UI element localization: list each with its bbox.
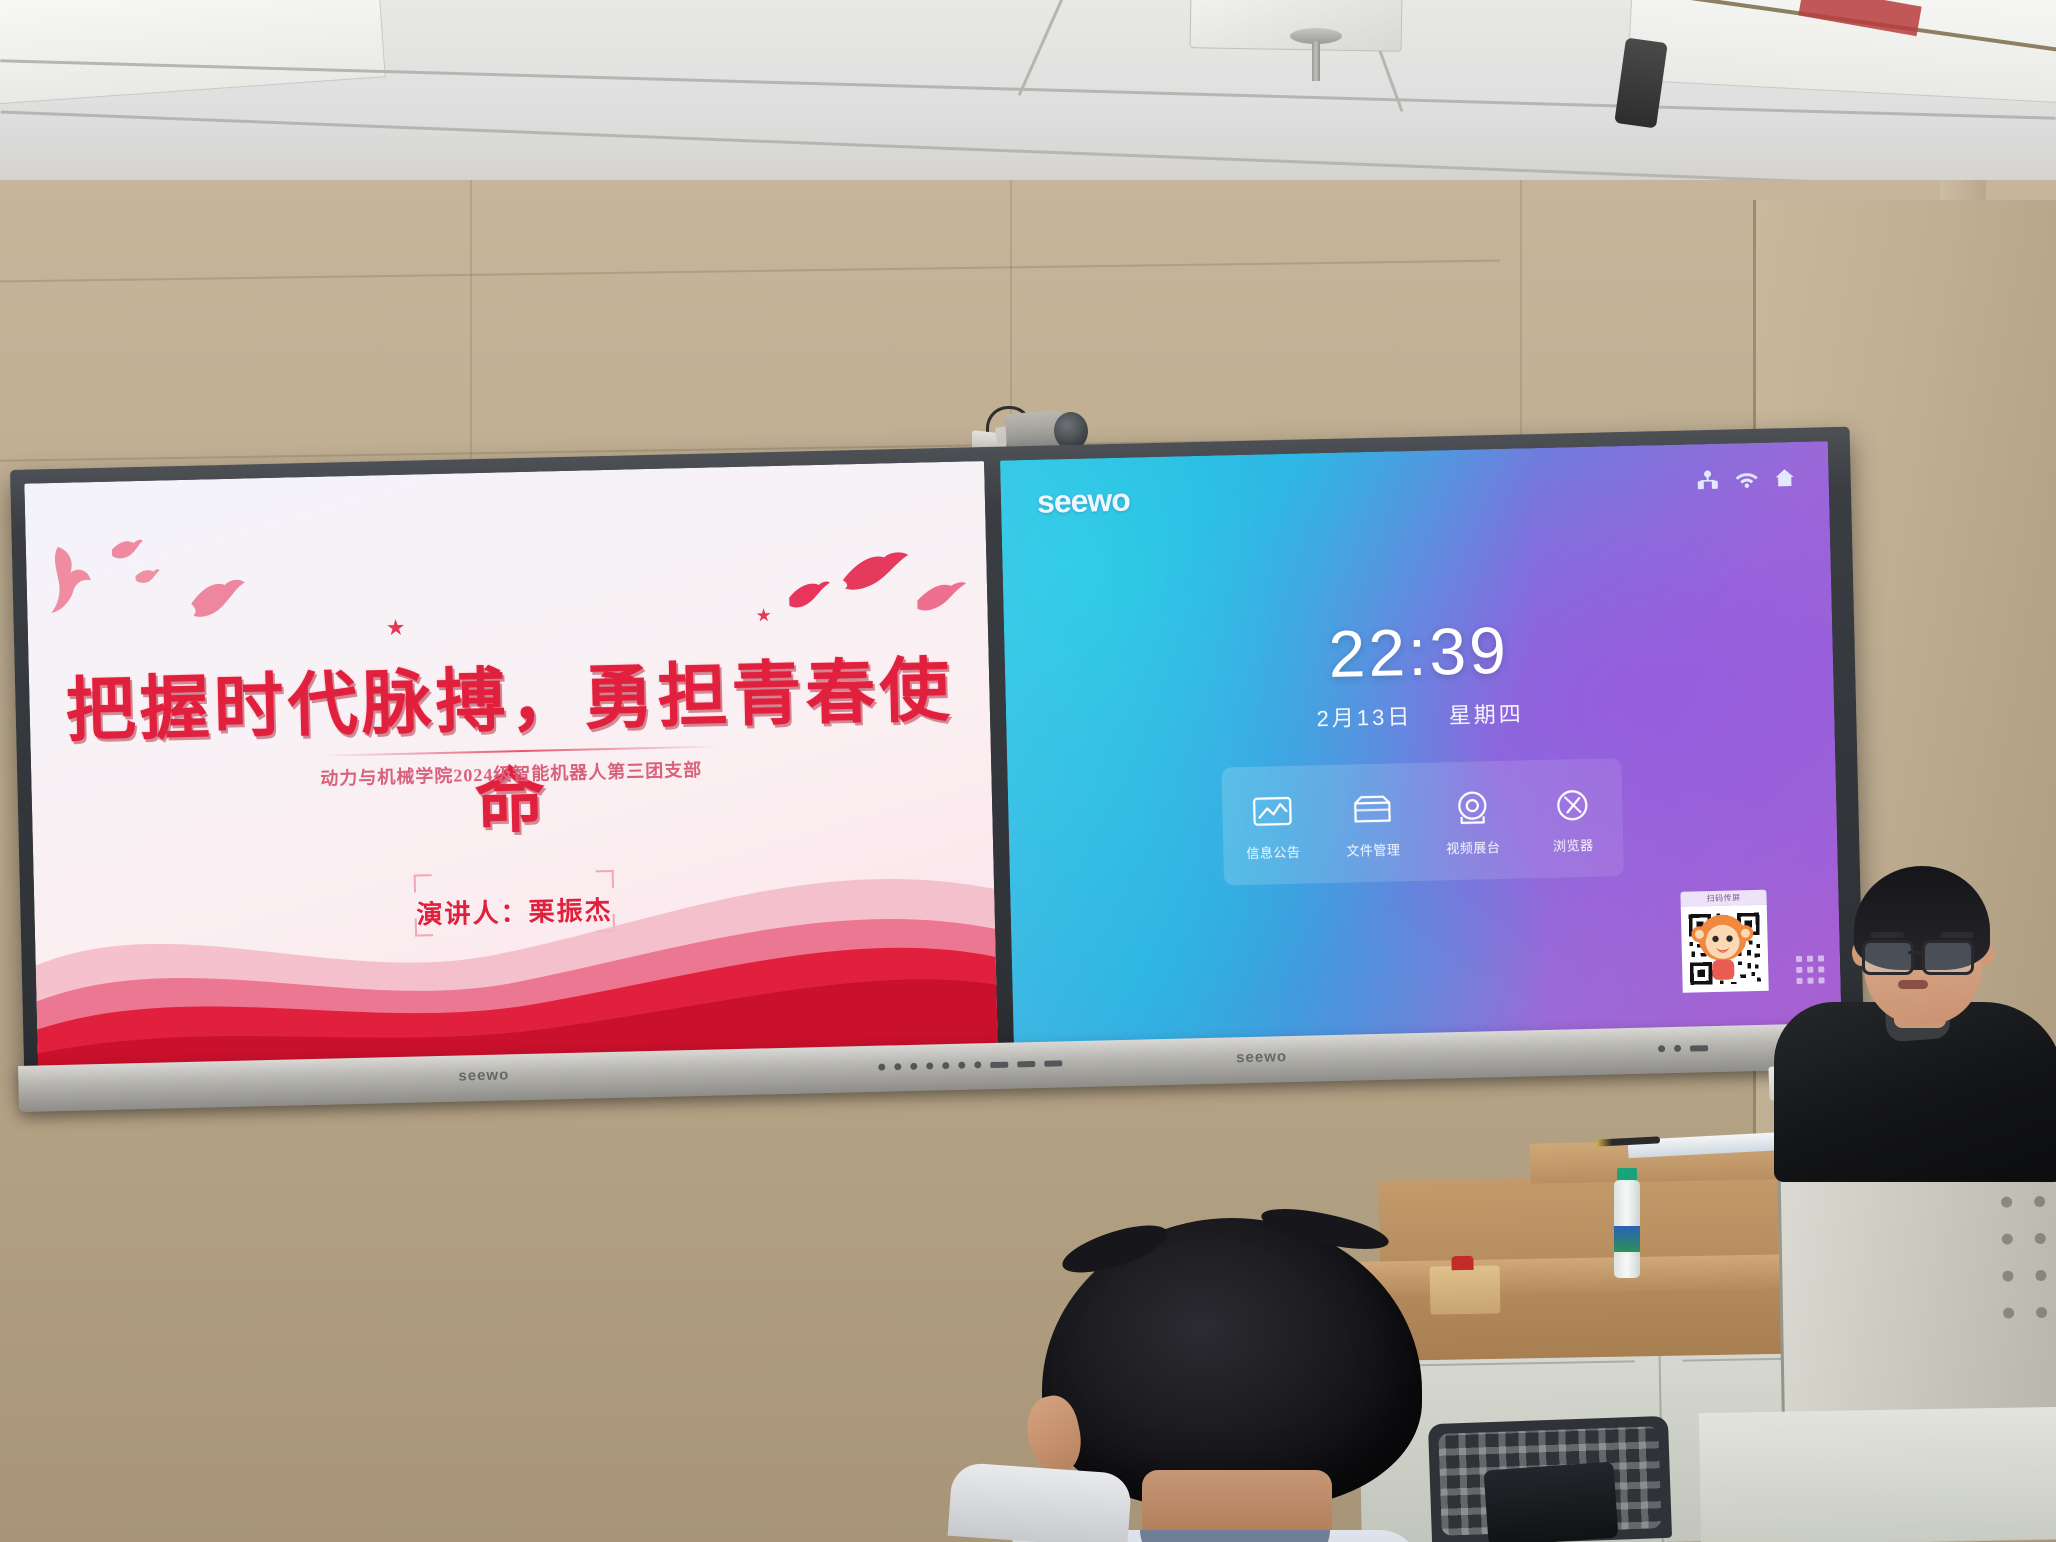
wall-seam <box>0 260 1500 283</box>
dock-label: 视频展台 <box>1431 837 1515 858</box>
bezel-brand-left: seewo <box>458 1066 509 1084</box>
left-display-panel[interactable]: ★ ★ 把握时代脉搏，勇担青春使命 动力与机械学院2024级智能机器人第三团支部… <box>24 461 998 1075</box>
ceiling-projector-mount <box>1614 37 1668 128</box>
bezel-control-buttons-right[interactable] <box>1658 1044 1708 1052</box>
lectern-vent-holes <box>2001 1196 2047 1319</box>
foreground-device <box>1484 1462 1619 1542</box>
dock-item-camera[interactable]: 视频展台 <box>1430 784 1516 858</box>
clock-weekday: 星期四 <box>1448 701 1524 728</box>
presenter-brow <box>1940 932 1974 938</box>
dove-icon <box>915 579 968 614</box>
star-icon: ★ <box>755 606 772 624</box>
ethernet-icon[interactable] <box>1696 470 1718 491</box>
dock-item-announcement[interactable]: 信息公告 <box>1230 788 1316 862</box>
dock-label: 浏览器 <box>1531 834 1615 855</box>
wall-seam <box>470 180 472 480</box>
ceiling-vent <box>1190 0 1403 52</box>
dock-label: 文件管理 <box>1331 839 1415 860</box>
presenter-brow <box>1870 932 1904 938</box>
clock-widget: 22:39 2月13日 星期四 <box>1004 609 1834 740</box>
dock-item-browser[interactable]: 浏览器 <box>1530 781 1616 855</box>
dock-label: 信息公告 <box>1231 841 1315 862</box>
ceiling-light-panel <box>0 0 386 107</box>
wifi-icon[interactable] <box>1735 470 1757 489</box>
presentation-slide[interactable]: ★ ★ 把握时代脉搏，勇担青春使命 动力与机械学院2024级智能机器人第三团支部… <box>24 461 998 1075</box>
dove-icon <box>189 578 252 627</box>
interactive-flat-panel-assembly: ★ ★ 把握时代脉搏，勇担青春使命 动力与机械学院2024级智能机器人第三团支部… <box>10 427 1864 1090</box>
dove-icon <box>840 551 911 597</box>
app-dock: 信息公告 文件管理 <box>1221 758 1624 885</box>
dove-icon <box>110 537 145 568</box>
bezel-control-buttons[interactable] <box>878 1059 1062 1070</box>
classroom-scene: ★ ★ 把握时代脉搏，勇担青春使命 动力与机械学院2024级智能机器人第三团支部… <box>0 0 2056 1542</box>
clock-date-value: 2月13日 <box>1316 704 1412 731</box>
foreground-arm <box>948 1462 1133 1542</box>
screen-glare <box>1000 441 1599 1052</box>
glasses-icon <box>1862 940 1986 970</box>
seewo-home-screen[interactable]: seewo <box>1000 441 1842 1052</box>
presenter <box>1790 852 2040 1152</box>
audience-collar <box>1140 1530 1330 1542</box>
side-table <box>1699 1407 2056 1542</box>
status-bar <box>1696 468 1794 490</box>
dove-icon <box>48 544 106 615</box>
star-icon: ★ <box>386 617 406 639</box>
camera-icon <box>1430 784 1515 832</box>
folder-icon <box>1330 786 1415 834</box>
dove-icon <box>787 579 832 614</box>
compass-icon <box>1530 781 1615 829</box>
dock-item-files[interactable]: 文件管理 <box>1330 786 1416 860</box>
whiteboard-icon <box>1230 788 1315 836</box>
home-icon[interactable] <box>1774 468 1794 488</box>
red-wave-footer <box>32 793 998 1076</box>
ceiling-grid-line <box>1018 0 1065 96</box>
dove-icon <box>134 566 161 589</box>
dove-decoration-left <box>48 528 351 665</box>
bezel-brand-right: seewo <box>1236 1048 1287 1066</box>
display-bezel: ★ ★ 把握时代脉搏，勇担青春使命 动力与机械学院2024级智能机器人第三团支部… <box>10 427 1864 1090</box>
water-bottle <box>1610 1168 1644 1278</box>
presenter-mouth <box>1898 980 1928 989</box>
mascot-icon <box>1691 907 1755 982</box>
seewo-logo: seewo <box>1037 482 1131 521</box>
right-display-panel[interactable]: seewo <box>1000 441 1842 1052</box>
qr-screen-share-widget[interactable]: 扫码传屏 <box>1680 890 1768 993</box>
